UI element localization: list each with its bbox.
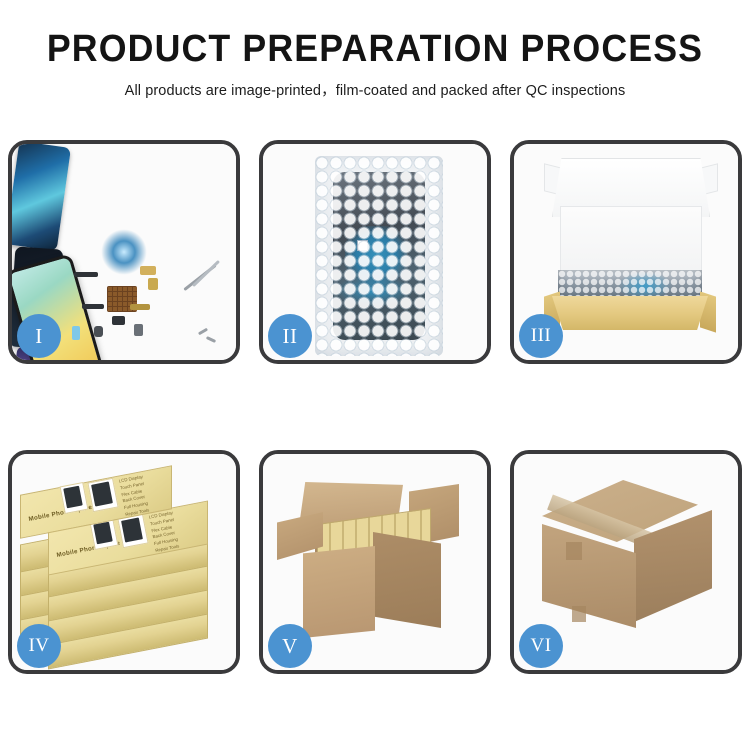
small-chip-part-7 xyxy=(94,326,103,337)
small-chip-part-4 xyxy=(82,304,104,309)
bubble-texture xyxy=(315,156,443,356)
header: PRODUCT PREPARATION PROCESS All products… xyxy=(0,0,750,100)
step-badge-6: VI xyxy=(519,624,563,668)
page-subtitle: All products are image-printed，film-coat… xyxy=(0,79,750,100)
small-chip-part-3 xyxy=(148,278,158,290)
kraft-box-tray xyxy=(552,296,708,330)
foam-sheet xyxy=(560,206,702,278)
carton-side-panel xyxy=(373,532,441,628)
small-chip-part-1 xyxy=(74,272,98,277)
screw-part-1 xyxy=(198,328,208,336)
small-chip-part-6 xyxy=(130,304,150,310)
carton-seam-tab-top xyxy=(566,542,582,560)
step-badge-5: V xyxy=(268,624,312,668)
small-chip-part-2 xyxy=(140,266,156,275)
box-screen-art-front-2 xyxy=(121,517,143,542)
process-step-card-6[interactable]: VI xyxy=(510,450,742,674)
small-chip-part-8 xyxy=(134,324,143,336)
process-step-card-5[interactable]: V xyxy=(259,450,491,674)
process-step-card-3[interactable]: III xyxy=(510,140,742,364)
step-badge-3: III xyxy=(519,314,563,358)
process-step-card-4[interactable]: Mobile Phone Spare Parts LCD Display Tou… xyxy=(8,450,240,674)
step-badge-4: IV xyxy=(17,624,61,668)
process-step-card-2[interactable]: II xyxy=(259,140,491,364)
process-step-card-1[interactable]: I xyxy=(8,140,240,364)
screwdriver-tool xyxy=(192,260,220,287)
carton-seam-tab-bottom xyxy=(572,606,586,622)
infographic-page: PRODUCT PREPARATION PROCESS All products… xyxy=(0,0,750,750)
bubble-wrap-bag xyxy=(315,156,443,356)
screw-part-2 xyxy=(206,336,216,343)
step-badge-1: I xyxy=(17,314,61,358)
page-title: PRODUCT PREPARATION PROCESS xyxy=(23,30,728,70)
phone-fan-blue xyxy=(12,144,71,251)
small-chip-part-5 xyxy=(112,316,125,325)
box-screen-art-back-2 xyxy=(91,481,113,506)
small-chip-part-9 xyxy=(72,326,80,340)
carton-front-panel xyxy=(303,546,375,638)
process-step-grid: I II xyxy=(8,140,742,674)
step-badge-2: II xyxy=(268,314,312,358)
